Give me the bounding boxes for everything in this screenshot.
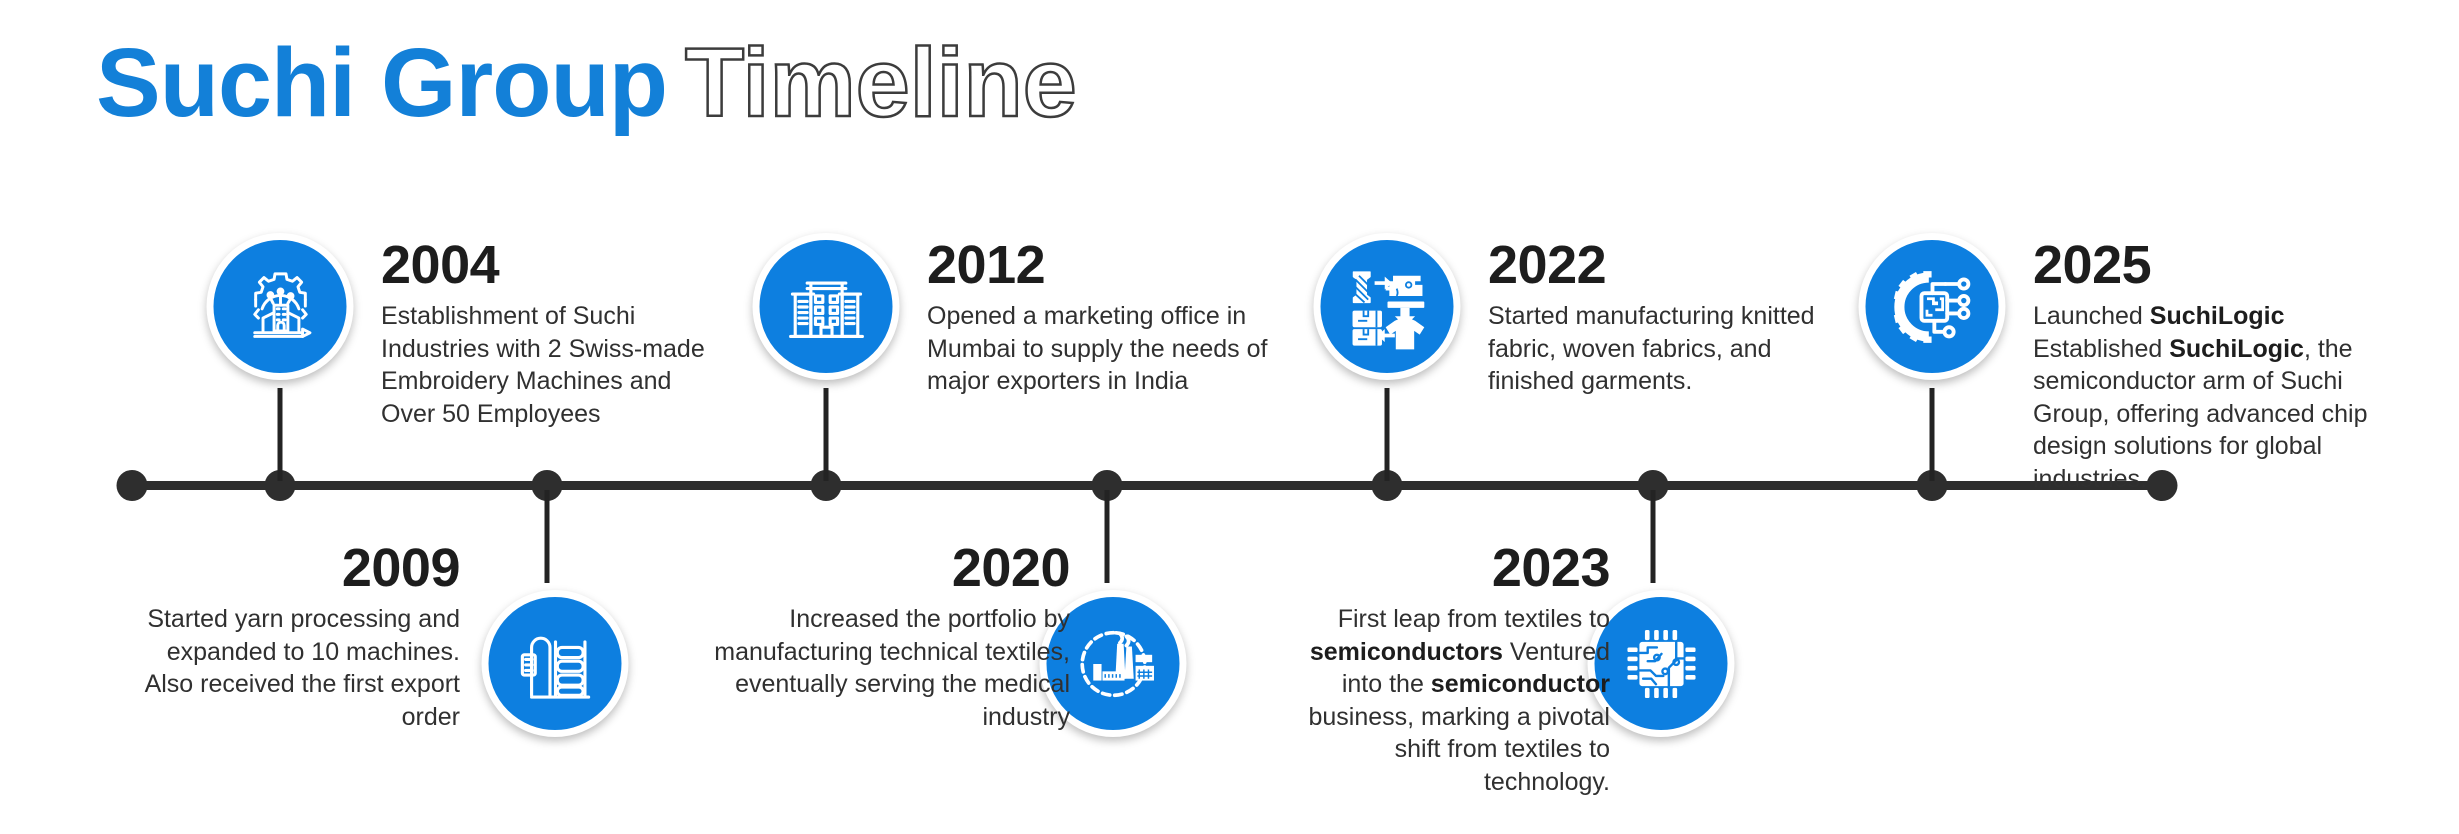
timeline-axis xyxy=(132,481,2162,490)
timeline-year-2009: 2009 xyxy=(140,540,460,596)
timeline-entry-2004: 2004 Establishment of Suchi Industries w… xyxy=(381,237,731,430)
gear-factory-circuit-icon xyxy=(234,261,326,353)
timeline-dot xyxy=(117,470,148,501)
timeline-description-2004: Establishment of Suchi Industries with 2… xyxy=(381,300,731,430)
gear-chip-circuit-icon xyxy=(1886,261,1978,353)
timeline-icon-2025[interactable] xyxy=(1859,233,2006,380)
timeline-stem-2022 xyxy=(1385,388,1390,481)
timeline-stem-2004 xyxy=(278,388,283,481)
timeline-year-2022: 2022 xyxy=(1488,237,1833,293)
timeline-year-2023: 2023 xyxy=(1290,540,1610,596)
timeline-description-2009: Started yarn processing and expanded to … xyxy=(140,603,460,733)
page-title-primary: Suchi Group xyxy=(96,28,667,137)
timeline-stem-2009 xyxy=(545,490,550,583)
timeline-icon-2022[interactable] xyxy=(1314,233,1461,380)
timeline-stem-2023 xyxy=(1651,490,1656,583)
timeline-year-2012: 2012 xyxy=(927,237,1277,293)
timeline-year-2025: 2025 xyxy=(2033,237,2373,293)
timeline-description-2012: Opened a marketing office in Mumbai to s… xyxy=(927,300,1277,398)
timeline-entry-2022: 2022 Started manufacturing knitted fabri… xyxy=(1488,237,1833,398)
timeline-icon-2009[interactable] xyxy=(482,590,629,737)
timeline-entry-2012: 2012 Opened a marketing office in Mumbai… xyxy=(927,237,1277,398)
timeline-description-2023: First leap from textiles to semiconducto… xyxy=(1290,603,1610,798)
timeline-description-2022: Started manufacturing knitted fabric, wo… xyxy=(1488,300,1833,398)
timeline-entry-2023: 2023 First leap from textiles to semicon… xyxy=(1290,540,1610,798)
page-title-secondary: Timeline xyxy=(685,28,1077,137)
timeline-entry-2025: 2025 Launched SuchiLogic Established Suc… xyxy=(2033,237,2373,495)
timeline-year-2004: 2004 xyxy=(381,237,731,293)
timeline-year-2020: 2020 xyxy=(700,540,1070,596)
factory-gear-icon xyxy=(1067,618,1159,710)
timeline-infographic: Suchi GroupTimeline xyxy=(0,0,2459,834)
microchip-icon xyxy=(1615,618,1707,710)
timeline-stem-2020 xyxy=(1105,490,1110,583)
timeline-entry-2020: 2020 Increased the portfolio by manufact… xyxy=(700,540,1070,733)
timeline-description-2020: Increased the portfolio by manufacturing… xyxy=(700,603,1070,733)
office-building-icon xyxy=(780,261,872,353)
yarn-spinning-machine-icon xyxy=(509,618,601,710)
timeline-stem-2012 xyxy=(824,388,829,481)
timeline-description-2025: Launched SuchiLogic Established SuchiLog… xyxy=(2033,300,2373,495)
timeline-stem-2025 xyxy=(1930,388,1935,481)
page-title: Suchi GroupTimeline xyxy=(96,34,1077,131)
garment-production-icon xyxy=(1341,261,1433,353)
timeline-entry-2009: 2009 Started yarn processing and expande… xyxy=(140,540,460,733)
timeline-icon-2012[interactable] xyxy=(753,233,900,380)
timeline-icon-2004[interactable] xyxy=(207,233,354,380)
